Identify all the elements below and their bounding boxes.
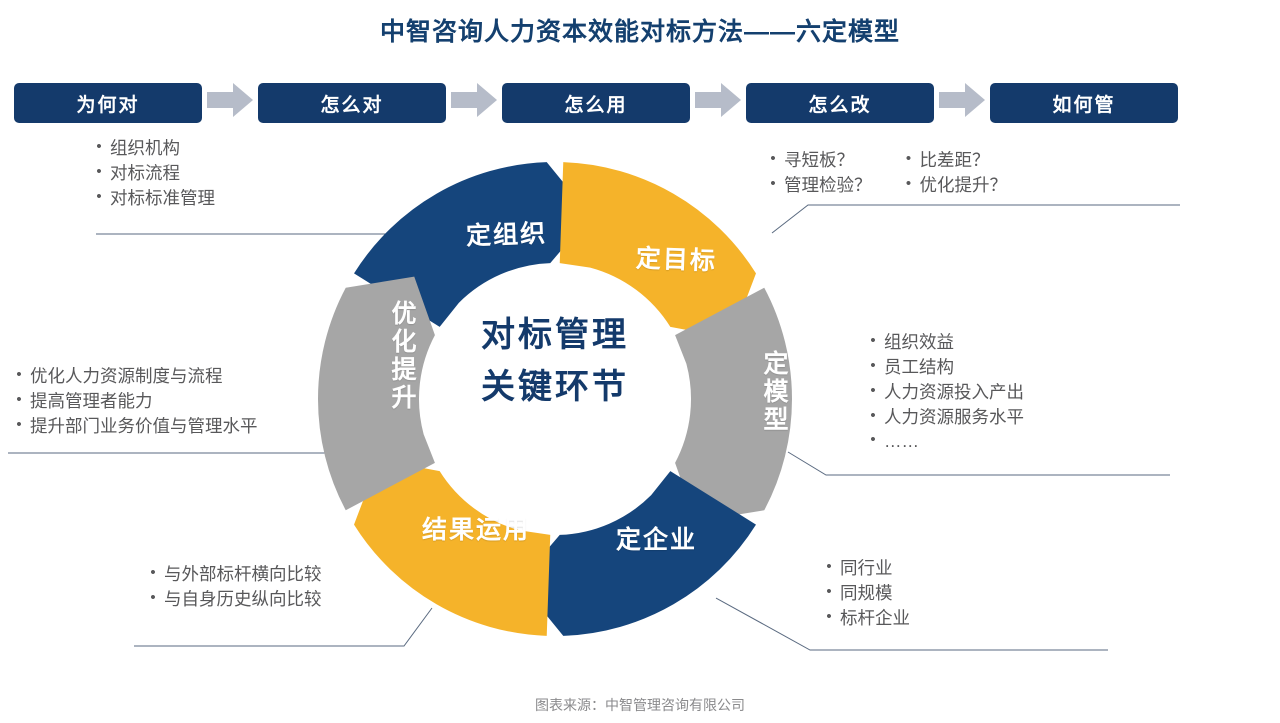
list-item: •组织机构: [88, 136, 215, 161]
stage-banner-how-to-improve[interactable]: 怎么改: [746, 83, 934, 123]
callout-top-right-column-b: •比差距？ •优化提升？: [898, 148, 1008, 198]
stage-banner-row: 为何对 怎么对 怎么用 怎么改 如何管: [14, 83, 1266, 123]
list-item: •人力资源投入产出: [862, 380, 1024, 405]
list-item: •与外部标杆横向比较: [142, 562, 322, 587]
center-line-2: 关键环节: [431, 362, 679, 414]
segment-label-ding-mu-biao[interactable]: 定目标: [635, 239, 717, 278]
bullet-dot: •: [88, 161, 110, 182]
bullet-dot: •: [8, 364, 30, 385]
list-item: •人力资源服务水平: [862, 405, 1024, 430]
source-note: 图表来源：中智管理咨询有限公司: [0, 695, 1280, 715]
list-item: •同规模: [818, 581, 910, 606]
right-arrow-icon: [690, 83, 746, 123]
list-item: •同行业: [818, 556, 910, 581]
list-item: •与自身历史纵向比较: [142, 587, 322, 612]
callout-top-left: •组织机构 •对标流程 •对标标准管理: [88, 136, 215, 211]
list-item: •……: [862, 429, 1024, 454]
stage-banner-how-to-benchmark[interactable]: 怎么对: [258, 83, 446, 123]
callout-bottom-right: •同行业 •同规模 •标杆企业: [818, 556, 910, 631]
page-title: 中智咨询人力资本效能对标方法——六定模型: [0, 12, 1280, 48]
bullet-dot: •: [8, 389, 30, 410]
bullet-dot: •: [88, 186, 110, 207]
bullet-dot: •: [8, 414, 30, 435]
segment-label-you-hua-ti-sheng[interactable]: 优化提升: [384, 300, 420, 412]
bullet-dot: •: [898, 148, 920, 169]
list-item: •对标标准管理: [88, 186, 215, 211]
callout-bottom-left: •与外部标杆横向比较 •与自身历史纵向比较: [142, 562, 322, 612]
right-arrow-icon: [202, 83, 258, 123]
bullet-dot: •: [818, 606, 840, 627]
list-item: •优化提升？: [898, 173, 1008, 198]
cycle-center-label: 对标管理 关键环节: [431, 310, 679, 413]
bullet-dot: •: [862, 380, 884, 401]
right-arrow-icon: [446, 83, 502, 123]
bullet-dot: •: [88, 136, 110, 157]
callout-top-right: •寻短板？ •管理检验？ •比差距？ •优化提升？: [762, 148, 1007, 198]
right-arrow-icon: [934, 83, 990, 123]
list-item: •比差距？: [898, 148, 1008, 173]
bullet-dot: •: [898, 173, 920, 194]
list-item: •对标流程: [88, 161, 215, 186]
stage-banner-how-to-manage[interactable]: 如何管: [990, 83, 1178, 123]
segment-label-jie-guo-yun-yong[interactable]: 结果运用: [422, 510, 530, 546]
list-item: •标杆企业: [818, 606, 910, 631]
segment-label-ding-mo-xing[interactable]: 定模型: [756, 350, 792, 434]
bullet-dot: •: [862, 429, 884, 450]
bullet-dot: •: [818, 556, 840, 577]
list-item: •提高管理者能力: [8, 389, 258, 414]
list-item: •优化人力资源制度与流程: [8, 364, 258, 389]
callout-right: •组织效益 •员工结构 •人力资源投入产出 •人力资源服务水平 •……: [862, 330, 1024, 454]
list-item: •提升部门业务价值与管理水平: [8, 414, 258, 439]
segment-label-ding-zu-zhi[interactable]: 定组织: [465, 214, 547, 253]
bullet-dot: •: [818, 581, 840, 602]
bullet-dot: •: [142, 587, 164, 608]
bullet-dot: •: [862, 405, 884, 426]
bullet-dot: •: [142, 562, 164, 583]
segment-label-ding-qi-ye[interactable]: 定企业: [616, 520, 697, 556]
list-item: •组织效益: [862, 330, 1024, 355]
bullet-dot: •: [862, 330, 884, 351]
center-line-1: 对标管理: [431, 310, 679, 362]
callout-left: •优化人力资源制度与流程 •提高管理者能力 •提升部门业务价值与管理水平: [8, 364, 258, 439]
bullet-dot: •: [862, 355, 884, 376]
slide-canvas: 中智咨询人力资本效能对标方法——六定模型 为何对 怎么对 怎么用 怎么改 如何管: [0, 0, 1280, 723]
stage-banner-how-to-use[interactable]: 怎么用: [502, 83, 690, 123]
stage-banner-why[interactable]: 为何对: [14, 83, 202, 123]
list-item: •员工结构: [862, 355, 1024, 380]
cycle-diagram: 定组织 定目标 定模型 定企业 结果运用 优化提升 对标管理 关键环节: [316, 160, 794, 638]
